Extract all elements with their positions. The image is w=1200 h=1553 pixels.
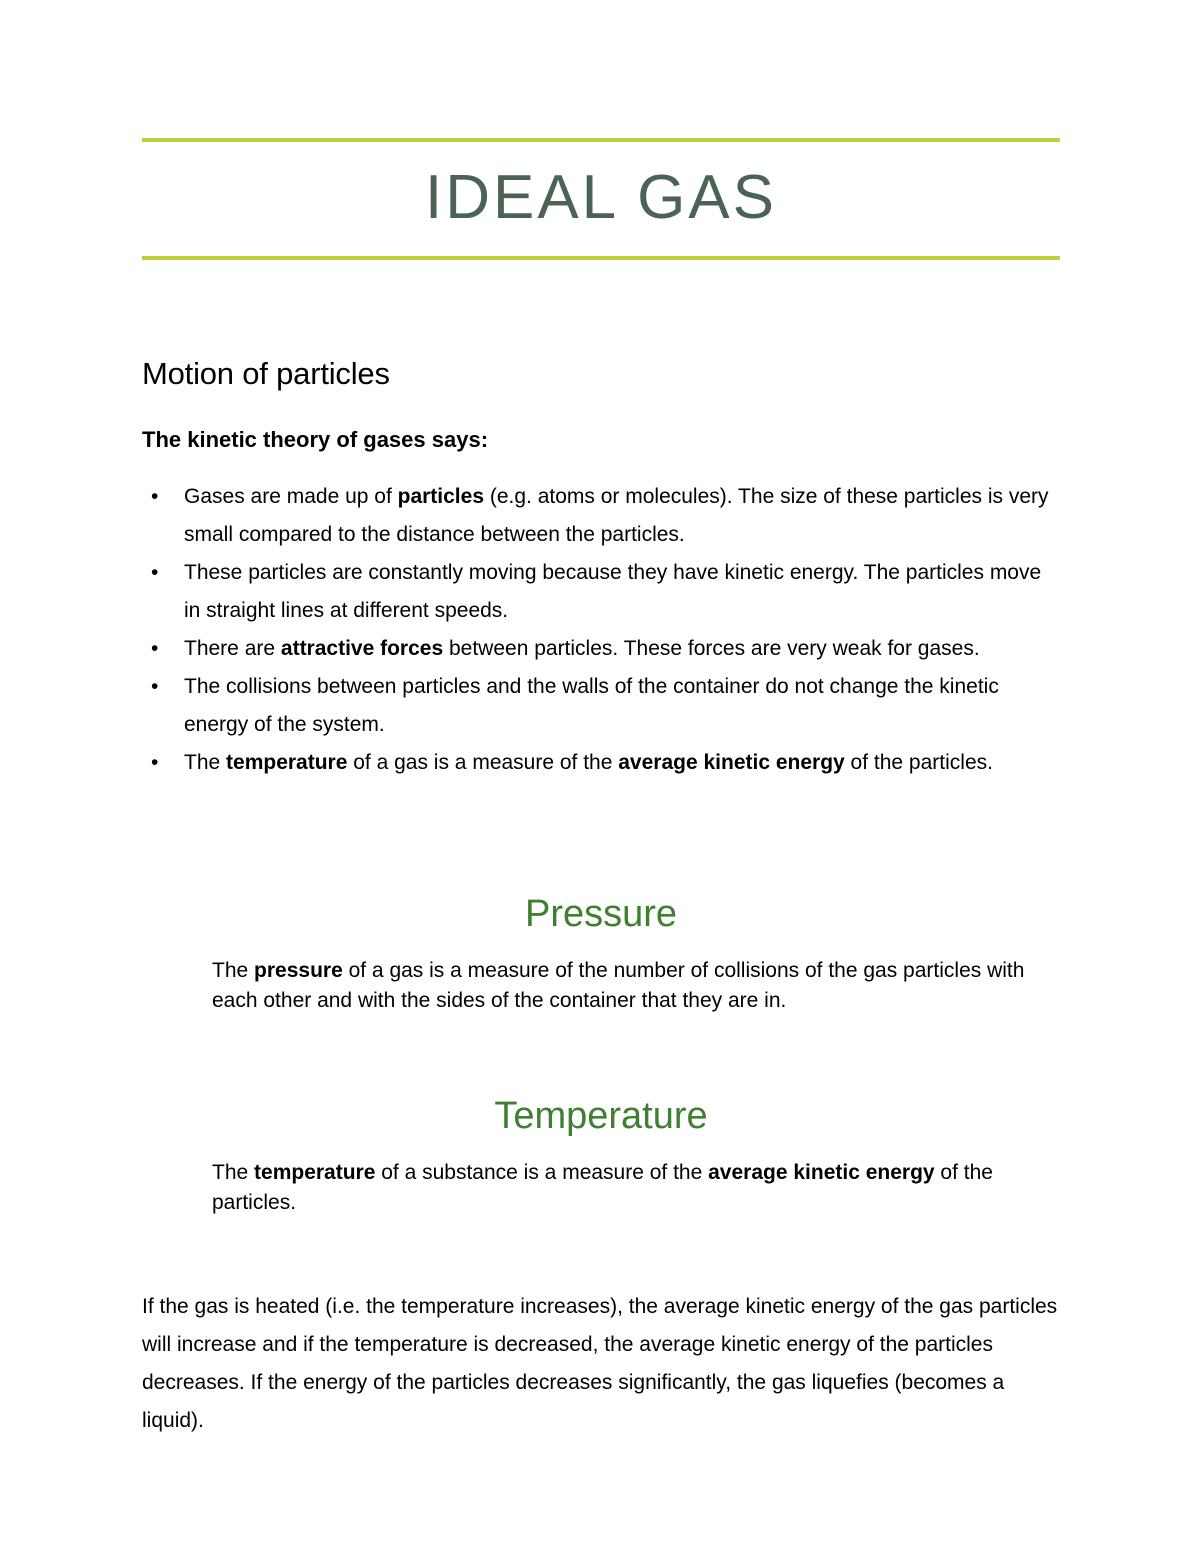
list-item: These particles are constantly moving be… (142, 554, 1060, 630)
page-title: IDEAL GAS (142, 142, 1060, 256)
section-heading-temperature: Temperature (142, 1094, 1060, 1140)
title-block: IDEAL GAS (142, 138, 1060, 260)
document-page: IDEAL GAS Motion of particles The kineti… (0, 0, 1200, 1553)
list-item: The temperature of a gas is a measure of… (142, 744, 1060, 782)
emphasis-term: average kinetic energy (708, 1161, 934, 1184)
text-run: If the gas is heated (i.e. the temperatu… (142, 1295, 1057, 1432)
text-run: These particles are constantly moving be… (184, 561, 1041, 622)
text-run: of the particles. (845, 751, 993, 774)
text-run: The (184, 751, 226, 774)
closing-paragraph: If the gas is heated (i.e. the temperatu… (142, 1288, 1060, 1440)
emphasis-term: temperature (226, 751, 347, 774)
document-content: Motion of particles The kinetic theory o… (142, 300, 1060, 1440)
emphasis-term: attractive forces (281, 637, 443, 660)
text-run: The (212, 1161, 254, 1184)
subheading-kinetic-theory: The kinetic theory of gases says: (142, 426, 1060, 455)
list-item: The collisions between particles and the… (142, 668, 1060, 744)
temperature-paragraph: The temperature of a substance is a meas… (212, 1158, 1060, 1218)
text-run: of a gas is a measure of the (347, 751, 618, 774)
emphasis-term: particles (398, 485, 484, 508)
section-heading-motion: Motion of particles (142, 355, 1060, 394)
emphasis-term: pressure (254, 959, 343, 982)
emphasis-term: temperature (254, 1161, 375, 1184)
text-run: between particles. These forces are very… (443, 637, 980, 660)
section-heading-pressure: Pressure (142, 892, 1060, 938)
text-run: The collisions between particles and the… (184, 675, 999, 736)
emphasis-term: average kinetic energy (618, 751, 844, 774)
kinetic-theory-bullet-list: Gases are made up of particles (e.g. ato… (142, 478, 1060, 782)
text-run: of a substance is a measure of the (375, 1161, 708, 1184)
text-run: There are (184, 637, 281, 660)
list-item: Gases are made up of particles (e.g. ato… (142, 478, 1060, 554)
pressure-paragraph: The pressure of a gas is a measure of th… (212, 956, 1060, 1016)
list-item: There are attractive forces between part… (142, 630, 1060, 668)
title-rule-bottom (142, 256, 1060, 260)
text-run: The (212, 959, 254, 982)
text-run: Gases are made up of (184, 485, 398, 508)
